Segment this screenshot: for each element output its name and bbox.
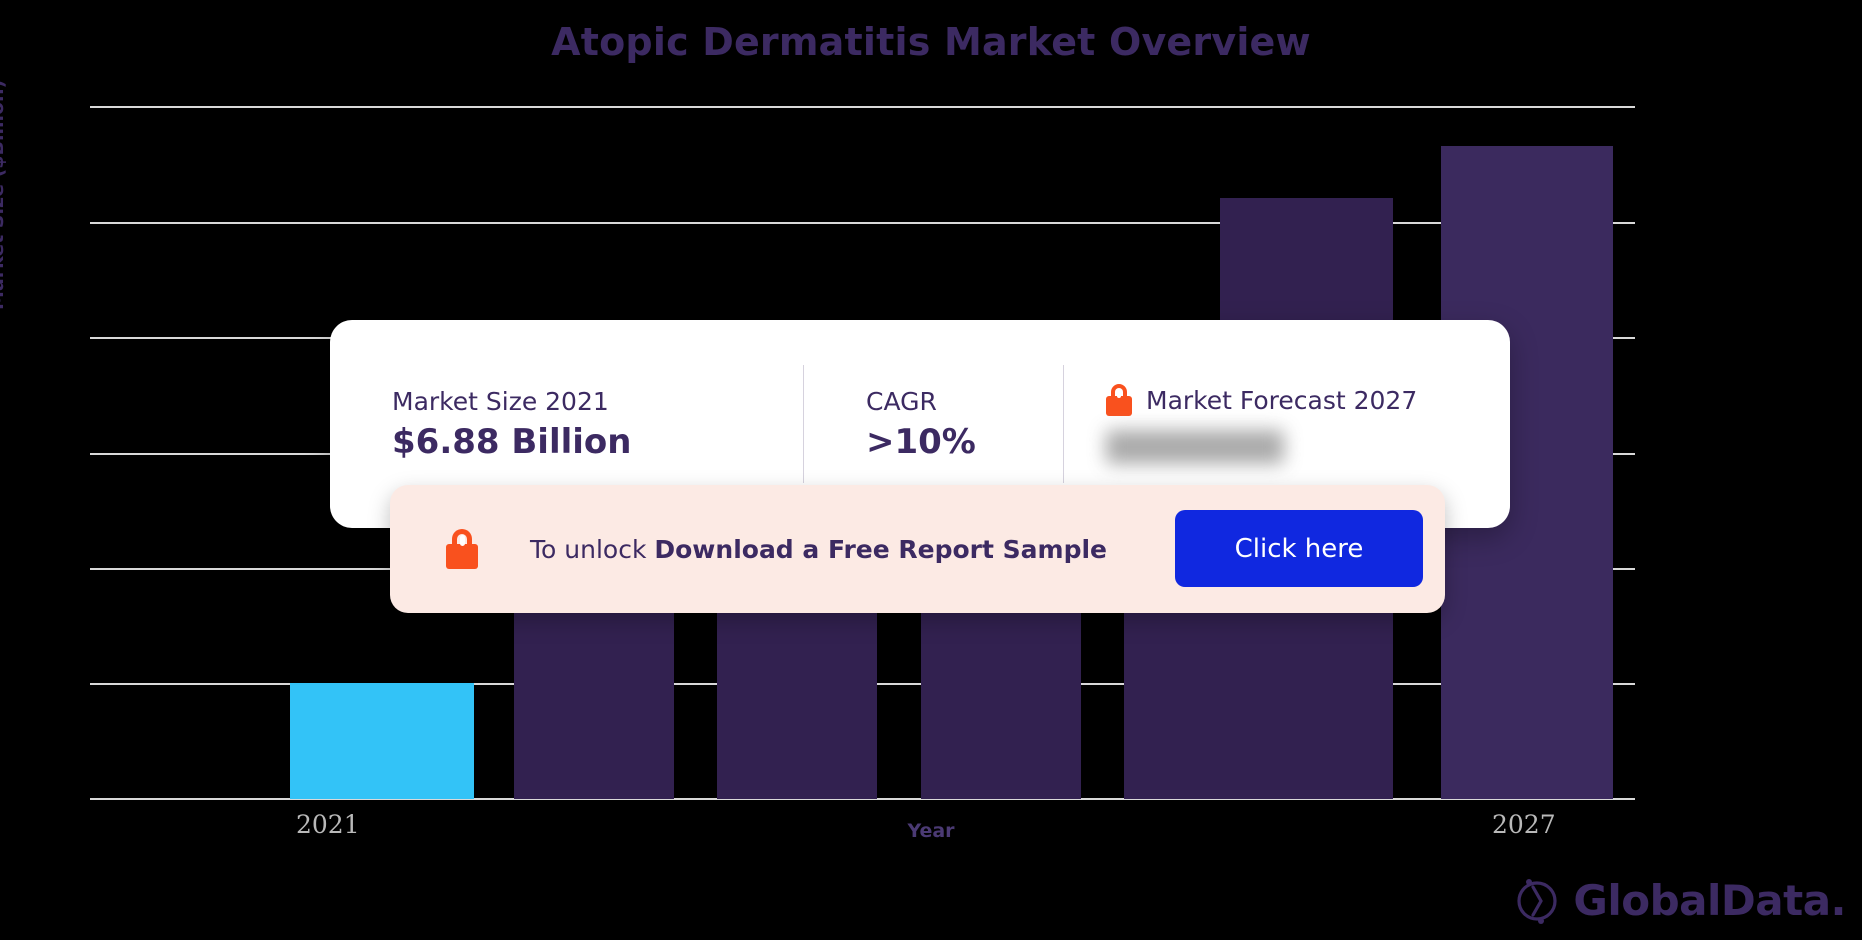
unlock-prefix: To unlock [530, 535, 654, 564]
stat-cagr-label: CAGR [866, 387, 1063, 416]
gridline [90, 106, 1635, 108]
stat-market-size-value: $6.88 Billion [392, 422, 803, 462]
stat-market-size-label: Market Size 2021 [392, 387, 803, 416]
globaldata-mark-icon [1511, 874, 1563, 926]
lock-icon [1106, 384, 1132, 416]
stat-forecast-label: Market Forecast 2027 [1146, 386, 1417, 415]
unlock-emphasis: Download a Free Report Sample [654, 535, 1107, 564]
y-axis-label: Market Size ($Billion) [0, 80, 8, 310]
lock-icon [446, 529, 478, 569]
stat-cagr: CAGR >10% [803, 365, 1063, 483]
chart-canvas: Atopic Dermatitis Market Overview Market… [0, 0, 1862, 940]
stat-market-forecast: Market Forecast 2027 [1063, 365, 1510, 483]
gridline [90, 222, 1635, 224]
stat-forecast-value-blurred [1106, 430, 1284, 464]
bar-2021 [290, 683, 474, 799]
page-title: Atopic Dermatitis Market Overview [0, 20, 1862, 64]
x-axis-label: Year [0, 820, 1862, 842]
stat-market-size: Market Size 2021 $6.88 Billion [330, 365, 803, 483]
unlock-message: To unlock Download a Free Report Sample [530, 535, 1107, 564]
globaldata-wordmark: GlobalData. [1573, 876, 1846, 925]
unlock-banner: To unlock Download a Free Report Sample … [390, 485, 1445, 613]
globaldata-logo: GlobalData. [1511, 874, 1846, 926]
click-here-button[interactable]: Click here [1175, 510, 1423, 587]
stat-cagr-value: >10% [866, 422, 1063, 462]
